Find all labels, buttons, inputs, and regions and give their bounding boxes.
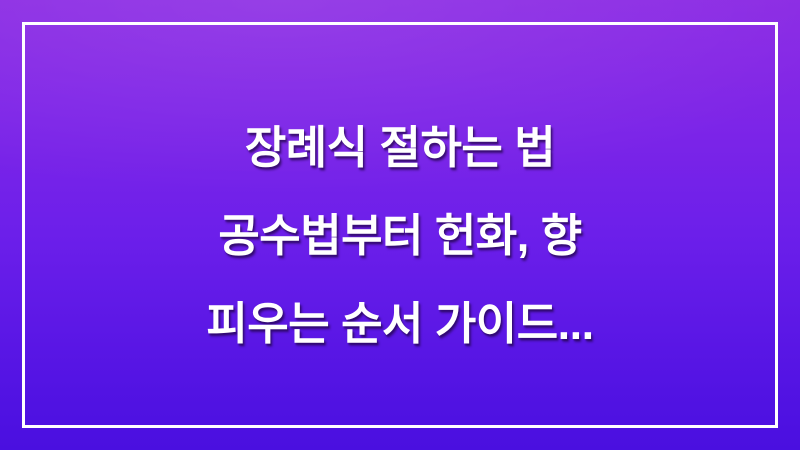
headline-line-1: 장례식 절하는 법 (40, 104, 760, 192)
headline-text-block: 장례식 절하는 법 공수법부터 헌화, 향 피우는 순서 가이드... (0, 104, 800, 368)
headline-line-2: 공수법부터 헌화, 향 (40, 192, 760, 280)
headline-line-3: 피우는 순서 가이드... (40, 280, 760, 368)
thumbnail-card: 장례식 절하는 법 공수법부터 헌화, 향 피우는 순서 가이드... (0, 0, 800, 450)
